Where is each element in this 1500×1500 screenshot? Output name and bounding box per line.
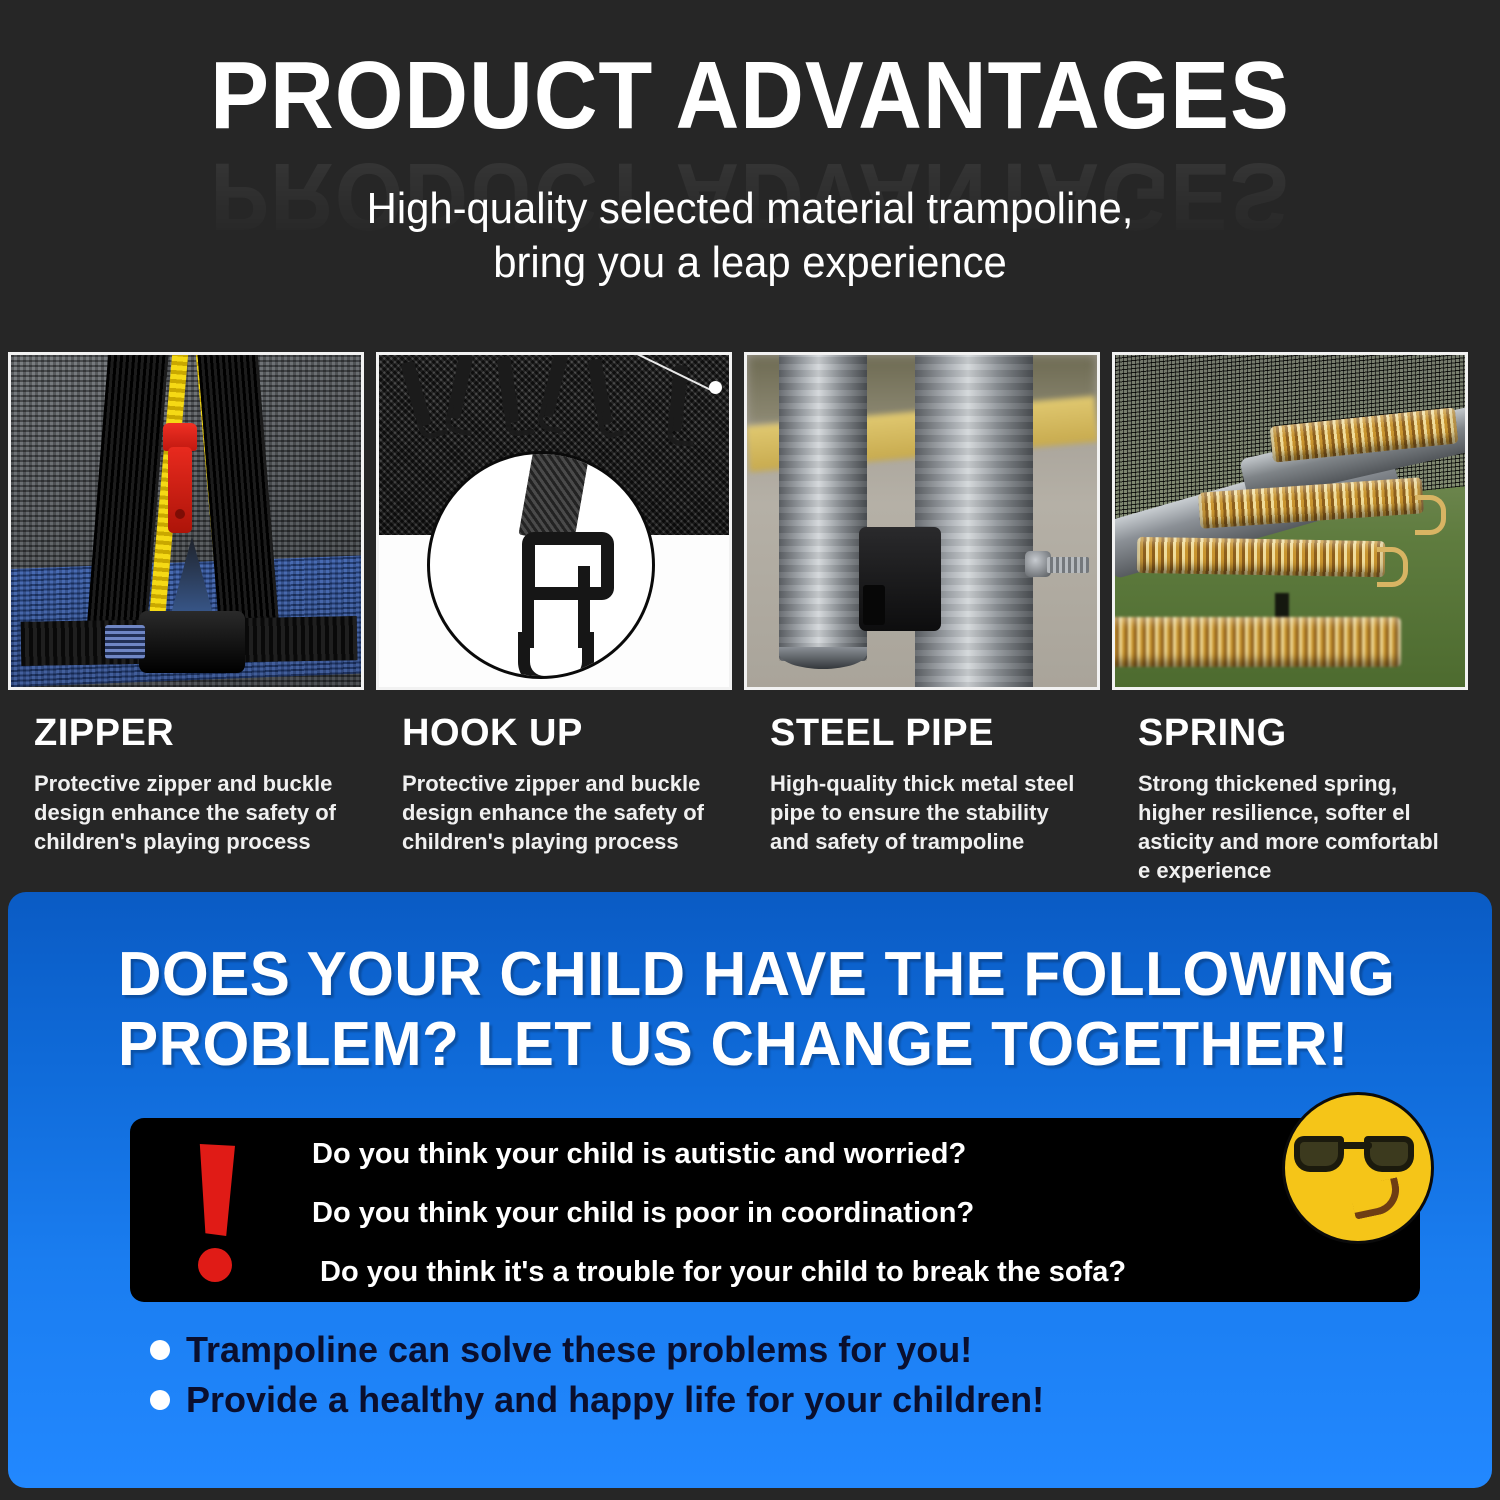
feature-title-zipper: ZIPPER <box>34 712 364 755</box>
emoji-sunglass-bridge <box>1340 1142 1372 1149</box>
feature-description-zipper: Protective zipper and buckle design enha… <box>34 769 339 856</box>
question-item-2: Do you think your child is poor in coord… <box>312 1199 1322 1228</box>
feature-description-spring: Strong thickened spring, higher resilien… <box>1138 769 1443 885</box>
feature-card-spring: SPRING Strong thickened spring, higher r… <box>1112 352 1468 885</box>
benefit-text-2: Provide a healthy and happy life for you… <box>186 1382 1044 1418</box>
emoji-sunglass-left <box>1294 1136 1344 1172</box>
list-item: Trampoline can solve these problems for … <box>150 1332 1350 1368</box>
subtitle-line-1: High-quality selected material trampolin… <box>38 182 1463 236</box>
benefit-text-1: Trampoline can solve these problems for … <box>186 1332 972 1368</box>
feature-title-hook-up: HOOK UP <box>402 712 732 755</box>
feature-card-steel-pipe: STEEL PIPE High-quality thick metal stee… <box>744 352 1100 885</box>
callout-dot <box>709 381 722 394</box>
feature-grid: ZIPPER Protective zipper and buckle desi… <box>8 352 1492 885</box>
feature-card-zipper: ZIPPER Protective zipper and buckle desi… <box>8 352 364 885</box>
exclamation-dot <box>198 1248 232 1282</box>
emoji-sunglass-right <box>1364 1136 1414 1172</box>
bolt-thread <box>1047 557 1089 573</box>
subtitle-line-2: bring you a leap experience <box>38 236 1463 290</box>
steel-pipe-right <box>915 355 1033 687</box>
question-item-3: Do you think it's a trouble for your chi… <box>320 1258 1322 1287</box>
sunglasses-smiley-emoji-icon <box>1282 1092 1434 1244</box>
questions-box: Do you think your child is autistic and … <box>130 1118 1420 1302</box>
hook-up-photo <box>376 352 732 690</box>
question-item-1: Do you think your child is autistic and … <box>312 1140 1322 1169</box>
page-title: PRODUCT ADVANTAGES <box>60 48 1440 144</box>
product-advantages-infographic: PRODUCT ADVANTAGES PRODUCT ADVANTAGES Hi… <box>0 0 1500 1500</box>
feature-title-steel-pipe: STEEL PIPE <box>770 712 1100 755</box>
magnifier-inset-circle <box>427 451 655 679</box>
heading-line-2: PROBLEM? LET US CHANGE TOGETHER! <box>118 1010 1408 1080</box>
zipper-pull-tab <box>168 447 192 533</box>
spring-coil-3 <box>1137 537 1386 577</box>
spring-hook-1 <box>1415 495 1446 535</box>
list-item: Provide a healthy and happy life for you… <box>150 1382 1350 1418</box>
black-plastic-clip <box>859 527 941 631</box>
problem-section-heading: DOES YOUR CHILD HAVE THE FOLLOWING PROBL… <box>118 940 1408 1080</box>
feature-title-spring: SPRING <box>1138 712 1468 755</box>
strap-webbing <box>518 451 589 544</box>
feature-card-hook-up: HOOK UP Protective zipper and buckle des… <box>376 352 732 885</box>
spring-coil-4-blurred <box>1115 617 1401 667</box>
question-list: Do you think your child is autistic and … <box>312 1140 1322 1287</box>
heading-line-1: DOES YOUR CHILD HAVE THE FOLLOWING <box>118 940 1408 1010</box>
exclamation-mark-icon <box>193 1144 241 1284</box>
zipper-photo <box>8 352 364 690</box>
feature-description-steel-pipe: High-quality thick metal steel pipe to e… <box>770 769 1075 856</box>
problem-section-panel: DOES YOUR CHILD HAVE THE FOLLOWING PROBL… <box>8 892 1492 1488</box>
steel-pipe-photo <box>744 352 1100 690</box>
hook-tip <box>518 632 594 679</box>
bullet-dot-icon <box>150 1340 170 1360</box>
header-section: PRODUCT ADVANTAGES PRODUCT ADVANTAGES Hi… <box>0 0 1500 340</box>
side-release-buckle <box>139 611 245 673</box>
steel-pipe-left <box>779 355 867 661</box>
page-subtitle: High-quality selected material trampolin… <box>38 182 1463 289</box>
spring-photo <box>1112 352 1468 690</box>
exclamation-bar <box>195 1144 235 1236</box>
bullet-dot-icon <box>150 1390 170 1410</box>
feature-description-hook-up: Protective zipper and buckle design enha… <box>402 769 707 856</box>
benefits-list: Trampoline can solve these problems for … <box>150 1332 1350 1432</box>
spring-hook-2 <box>1377 547 1408 587</box>
